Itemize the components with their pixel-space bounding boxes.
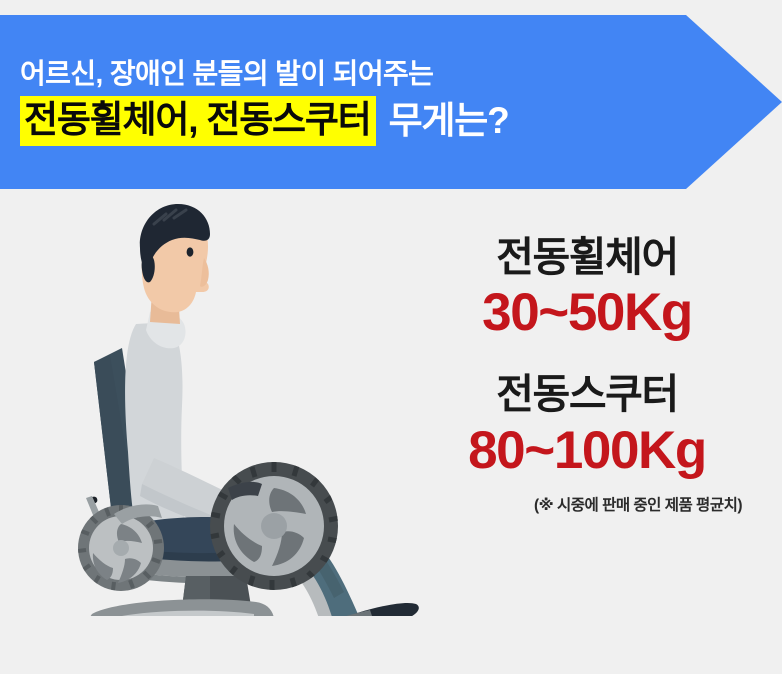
scooter-label: 전동스쿠터 <box>428 369 746 419</box>
wheelchair-weight-value: 30~50Kg <box>428 282 746 343</box>
header-title: 전동휠체어, 전동스쿠터 무게는? <box>20 96 720 145</box>
spec-footnote: (※ 시중에 판매 중인 제품 평균치) <box>428 493 746 515</box>
header-title-question: 무게는? <box>376 100 509 141</box>
header-subtitle: 어르신, 장애인 분들의 발이 되어주는 <box>20 58 720 90</box>
infographic-root: 어르신, 장애인 분들의 발이 되어주는 전동휠체어, 전동스쿠터 무게는? <box>0 0 782 674</box>
spec-block-wheelchair: 전동휠체어 30~50Kg <box>428 232 746 343</box>
scooter-weight-value: 80~100Kg <box>428 420 746 481</box>
header-title-highlight: 전동휠체어, 전동스쿠터 <box>20 96 376 145</box>
powered-wheelchair-illustration <box>58 196 448 616</box>
person-head-icon <box>140 204 210 324</box>
wheelchair-label: 전동휠체어 <box>428 232 746 282</box>
front-caster-wheel-icon <box>78 504 164 591</box>
header-banner: 어르신, 장애인 분들의 발이 되어주는 전동휠체어, 전동스쿠터 무게는? <box>0 15 782 189</box>
rear-wheel-icon <box>209 462 339 590</box>
header-banner-content: 어르신, 장애인 분들의 발이 되어주는 전동휠체어, 전동스쿠터 무게는? <box>20 15 720 189</box>
weight-spec-column: 전동휠체어 30~50Kg 전동스쿠터 80~100Kg (※ 시중에 판매 중… <box>428 232 746 515</box>
spec-block-scooter: 전동스쿠터 80~100Kg <box>428 369 746 480</box>
